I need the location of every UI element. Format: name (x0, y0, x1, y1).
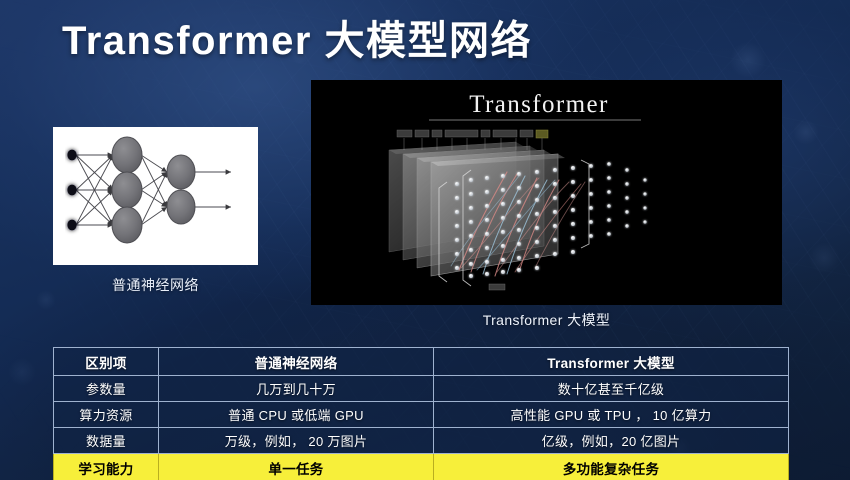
table-header-row: 区别项 普通神经网络 Transformer 大模型 (54, 348, 789, 376)
comparison-table: 区别项 普通神经网络 Transformer 大模型 参数量 几万到几十万 数十… (53, 347, 789, 480)
table-cell: 几万到几十万 (159, 376, 434, 402)
token-label-chips (397, 130, 548, 138)
neural-network-svg (53, 127, 258, 265)
table-row: 算力资源 普通 CPU 或低端 GPU 高性能 GPU 或 TPU ， 10 亿… (54, 402, 789, 428)
table-cell: 万级，例如， 20 万图片 (159, 428, 434, 454)
output-chip (489, 284, 505, 290)
page-title: Transformer 大模型网络 (62, 14, 532, 68)
table-cell: 参数量 (54, 376, 159, 402)
table-row-highlighted: 学习能力 单一任务 多功能复杂任务 (54, 454, 789, 480)
slide-canvas: Transformer 大模型网络 (0, 0, 850, 480)
table-cell: 数据量 (54, 428, 159, 454)
plain-neural-network-diagram (53, 127, 258, 265)
table-cell: 算力资源 (54, 402, 159, 428)
table-cell: 单一任务 (159, 454, 434, 480)
table-cell: 多功能复杂任务 (434, 454, 789, 480)
table-row: 参数量 几万到几十万 数十亿甚至千亿级 (54, 376, 789, 402)
table-cell: 学习能力 (54, 454, 159, 480)
table-cell: 亿级，例如，20 亿图片 (434, 428, 789, 454)
table-header-cell: Transformer 大模型 (434, 348, 789, 376)
table-row: 数据量 万级，例如， 20 万图片 亿级，例如，20 亿图片 (54, 428, 789, 454)
table-cell: 数十亿甚至千亿级 (434, 376, 789, 402)
table-cell: 普通 CPU 或低端 GPU (159, 402, 434, 428)
plain-neural-network-caption: 普通神经网络 (53, 275, 258, 295)
transformer-figure-caption: Transformer 大模型 (311, 310, 782, 330)
transformer-overlay-title: Transformer (469, 91, 608, 118)
transformer-render-figure: Transformer (311, 80, 782, 305)
table-header-cell: 区别项 (54, 348, 159, 376)
transformer-render-svg: Transformer (311, 80, 782, 305)
table-cell: 高性能 GPU 或 TPU ， 10 亿算力 (434, 402, 789, 428)
table-header-cell: 普通神经网络 (159, 348, 434, 376)
